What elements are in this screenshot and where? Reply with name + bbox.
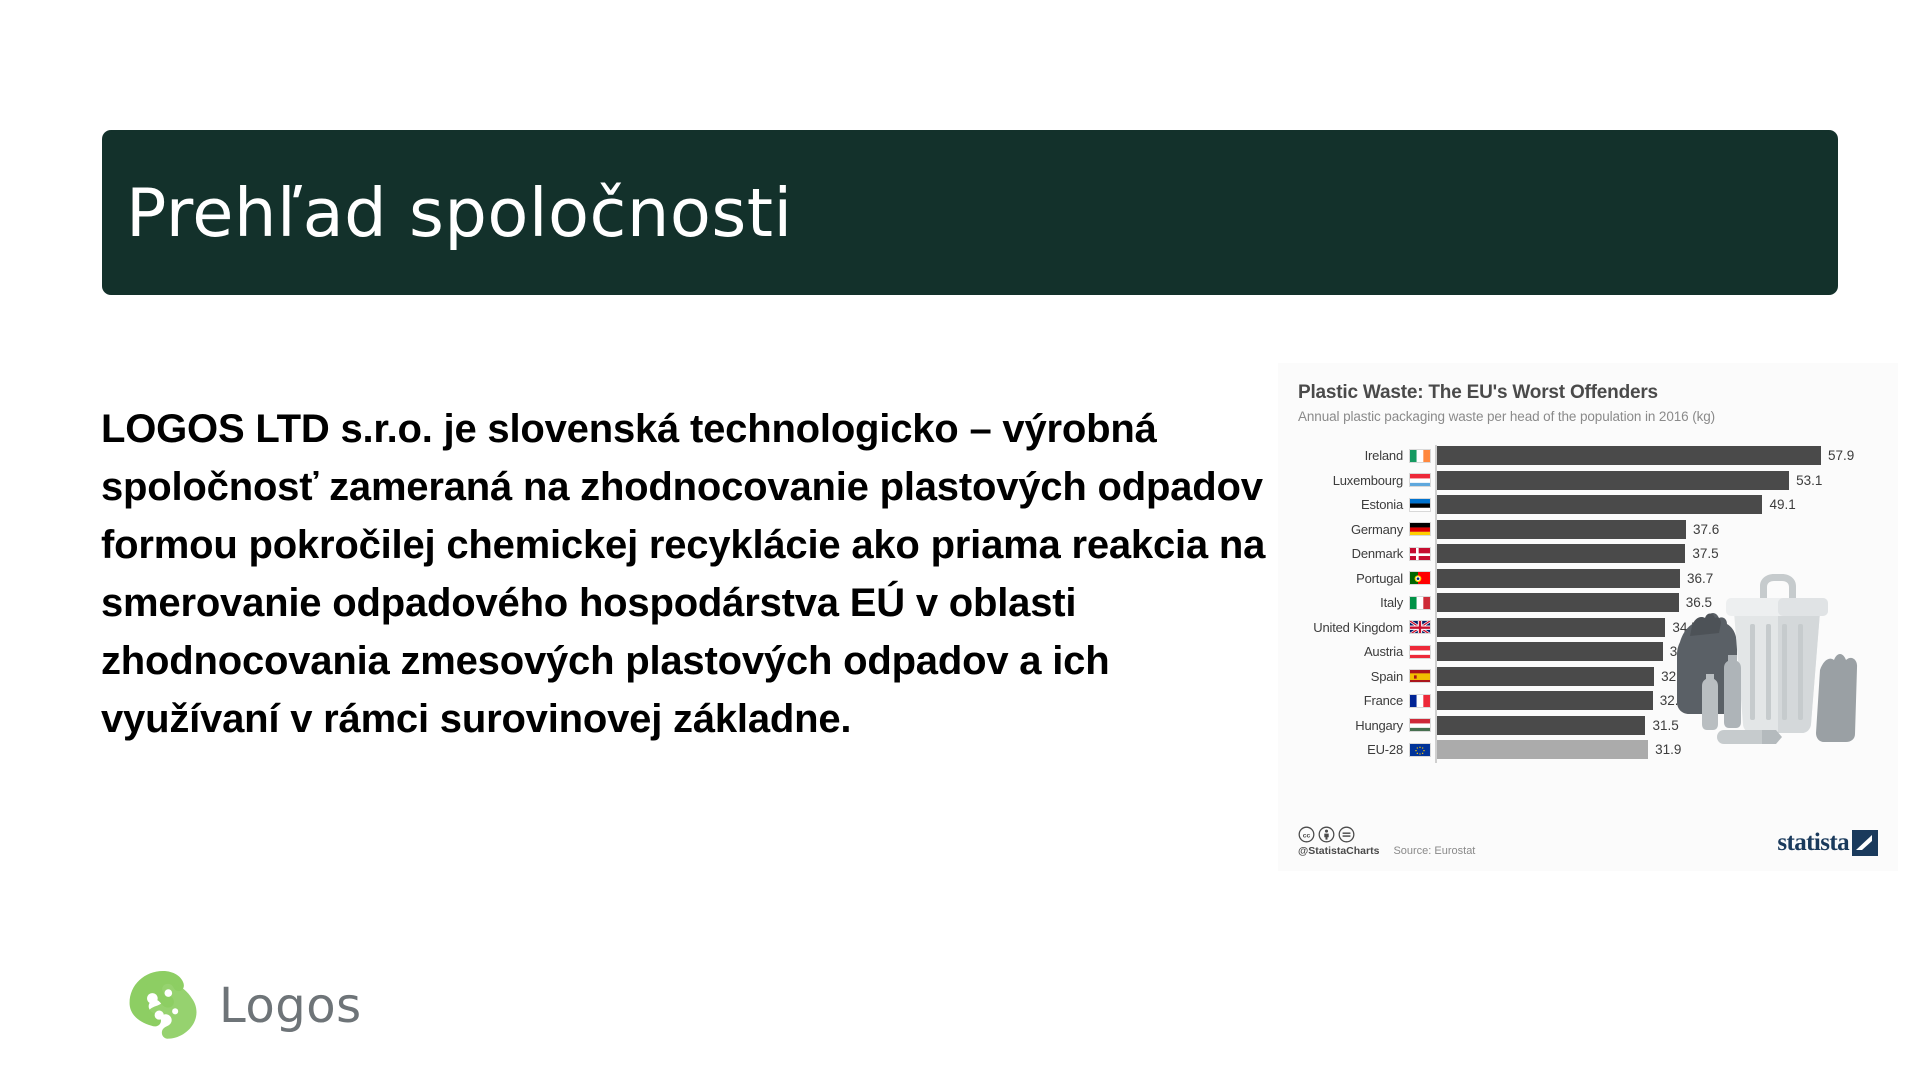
- flag-germany-icon: [1409, 522, 1431, 536]
- chart-bar-row: Denmark37.5: [1298, 543, 1878, 564]
- bar: [1436, 569, 1680, 588]
- flag-austria-icon: [1409, 645, 1431, 659]
- bar-track: 34.5: [1436, 618, 1878, 637]
- bar: [1436, 593, 1679, 612]
- bar-track: 37.6: [1436, 520, 1878, 539]
- bar-track: 37.5: [1436, 544, 1878, 563]
- bar-category-label: Hungary: [1298, 718, 1403, 733]
- chart-bar-row: Luxembourg53.1: [1298, 470, 1878, 491]
- bar: [1436, 520, 1686, 539]
- bar-value-label: 31.9: [1655, 742, 1681, 757]
- bar-track: 49.1: [1436, 495, 1878, 514]
- flag-estonia-icon: [1409, 498, 1431, 512]
- page-title: Prehľad spoločnosti: [102, 174, 793, 252]
- logo-wordmark: Logos: [219, 978, 362, 1034]
- bar-value-label: 34.5: [1672, 620, 1698, 635]
- bar: [1436, 471, 1789, 490]
- slide-title-banner: Prehľad spoločnosti: [102, 130, 1838, 295]
- chart-bar-row: Germany37.6: [1298, 519, 1878, 540]
- chart-bar-row: Portugal36.7: [1298, 568, 1878, 589]
- bar-value-label: 53.1: [1796, 473, 1822, 488]
- statista-handle: @StatistaCharts: [1298, 845, 1379, 857]
- bar: [1436, 691, 1653, 710]
- bar-value-label: 57.9: [1828, 448, 1854, 463]
- bar-value-label: 31.5: [1652, 718, 1678, 733]
- cc-by-icon: [1318, 826, 1335, 843]
- chart-bar-row: United Kingdom34.5: [1298, 617, 1878, 638]
- bar-track: 32.6: [1436, 691, 1878, 710]
- statista-chart: Plastic Waste: The EU's Worst Offenders …: [1278, 363, 1898, 871]
- flag-eu-icon: [1409, 743, 1431, 757]
- chart-bar-row: Hungary31.5: [1298, 715, 1878, 736]
- chart-bar-row: Ireland57.9: [1298, 445, 1878, 466]
- bar-value-label: 36.5: [1686, 595, 1712, 610]
- chart-title: Plastic Waste: The EU's Worst Offenders: [1298, 381, 1878, 405]
- cc-icon: cc: [1298, 826, 1315, 843]
- chart-bar-list: Ireland57.9Luxembourg53.1Estonia49.1Germ…: [1298, 445, 1878, 760]
- cc-nd-icon: [1338, 826, 1355, 843]
- bar-track: 36.5: [1436, 593, 1878, 612]
- bar: [1436, 642, 1663, 661]
- bar: [1436, 667, 1654, 686]
- chart-plot-area: Ireland57.9Luxembourg53.1Estonia49.1Germ…: [1298, 445, 1878, 763]
- chart-axis-line: [1435, 445, 1437, 763]
- flag-spain-icon: [1409, 669, 1431, 683]
- flag-luxembourg-icon: [1409, 473, 1431, 487]
- license-group: cc @StatistaCharts Source: Eurostat: [1298, 826, 1475, 857]
- bar-track: 31.9: [1436, 740, 1878, 759]
- chart-bar-row: EU-2831.9: [1298, 739, 1878, 760]
- bar-track: 31.5: [1436, 716, 1878, 735]
- body-paragraph: LOGOS LTD s.r.o. je slovenská technologi…: [101, 400, 1291, 748]
- statista-logo: statista: [1777, 829, 1878, 857]
- flag-portugal-icon: [1409, 571, 1431, 585]
- bar-category-label: Luxembourg: [1298, 473, 1403, 488]
- bar-category-label: Italy: [1298, 595, 1403, 610]
- chart-bar-row: Austria34.1: [1298, 641, 1878, 662]
- flag-ireland-icon: [1409, 449, 1431, 463]
- bar-value-label: 49.1: [1769, 497, 1795, 512]
- bar-category-label: Estonia: [1298, 497, 1403, 512]
- bar-value-label: 36.7: [1687, 571, 1713, 586]
- bar-track: 57.9: [1436, 446, 1878, 465]
- statista-wordmark: statista: [1777, 829, 1849, 857]
- bar: [1436, 495, 1762, 514]
- bar-category-label: Spain: [1298, 669, 1403, 684]
- chart-bar-row: France32.6: [1298, 690, 1878, 711]
- chart-source: Source: Eurostat: [1393, 845, 1475, 857]
- flag-denmark-icon: [1409, 547, 1431, 561]
- chart-subtitle: Annual plastic packaging waste per head …: [1298, 408, 1878, 425]
- bar-value-label: 34.1: [1670, 644, 1696, 659]
- bar: [1436, 544, 1685, 563]
- bar: [1436, 740, 1648, 759]
- bar-category-label: EU-28: [1298, 742, 1403, 757]
- bar-category-label: Portugal: [1298, 571, 1403, 586]
- bar-value-label: 37.5: [1692, 546, 1718, 561]
- bar-value-label: 37.6: [1693, 522, 1719, 537]
- bar-category-label: Germany: [1298, 522, 1403, 537]
- chart-bar-row: Spain32.8: [1298, 666, 1878, 687]
- chart-footer: cc @StatistaCharts Source: Eurostat: [1298, 826, 1878, 857]
- bar: [1436, 618, 1665, 637]
- bar-value-label: 32.8: [1661, 669, 1687, 684]
- flag-italy-icon: [1409, 596, 1431, 610]
- bar-category-label: United Kingdom: [1298, 620, 1403, 635]
- flag-uk-icon: [1409, 620, 1431, 634]
- bar-value-label: 32.6: [1660, 693, 1686, 708]
- flag-hungary-icon: [1409, 718, 1431, 732]
- bar-track: 53.1: [1436, 471, 1878, 490]
- bar-track: 36.7: [1436, 569, 1878, 588]
- chart-bar-row: Estonia49.1: [1298, 494, 1878, 515]
- bar-category-label: France: [1298, 693, 1403, 708]
- bar-category-label: Austria: [1298, 644, 1403, 659]
- svg-text:cc: cc: [1303, 833, 1311, 840]
- cc-icons: cc: [1298, 826, 1475, 843]
- flag-france-icon: [1409, 694, 1431, 708]
- bar: [1436, 716, 1645, 735]
- company-logo: Logos: [125, 968, 362, 1044]
- logos-mark-icon: [125, 968, 201, 1044]
- chart-bar-row: Italy36.5: [1298, 592, 1878, 613]
- statista-mark-icon: [1852, 830, 1878, 856]
- bar-track: 32.8: [1436, 667, 1878, 686]
- bar-track: 34.1: [1436, 642, 1878, 661]
- bar-category-label: Ireland: [1298, 448, 1403, 463]
- bar-category-label: Denmark: [1298, 546, 1403, 561]
- bar: [1436, 446, 1821, 465]
